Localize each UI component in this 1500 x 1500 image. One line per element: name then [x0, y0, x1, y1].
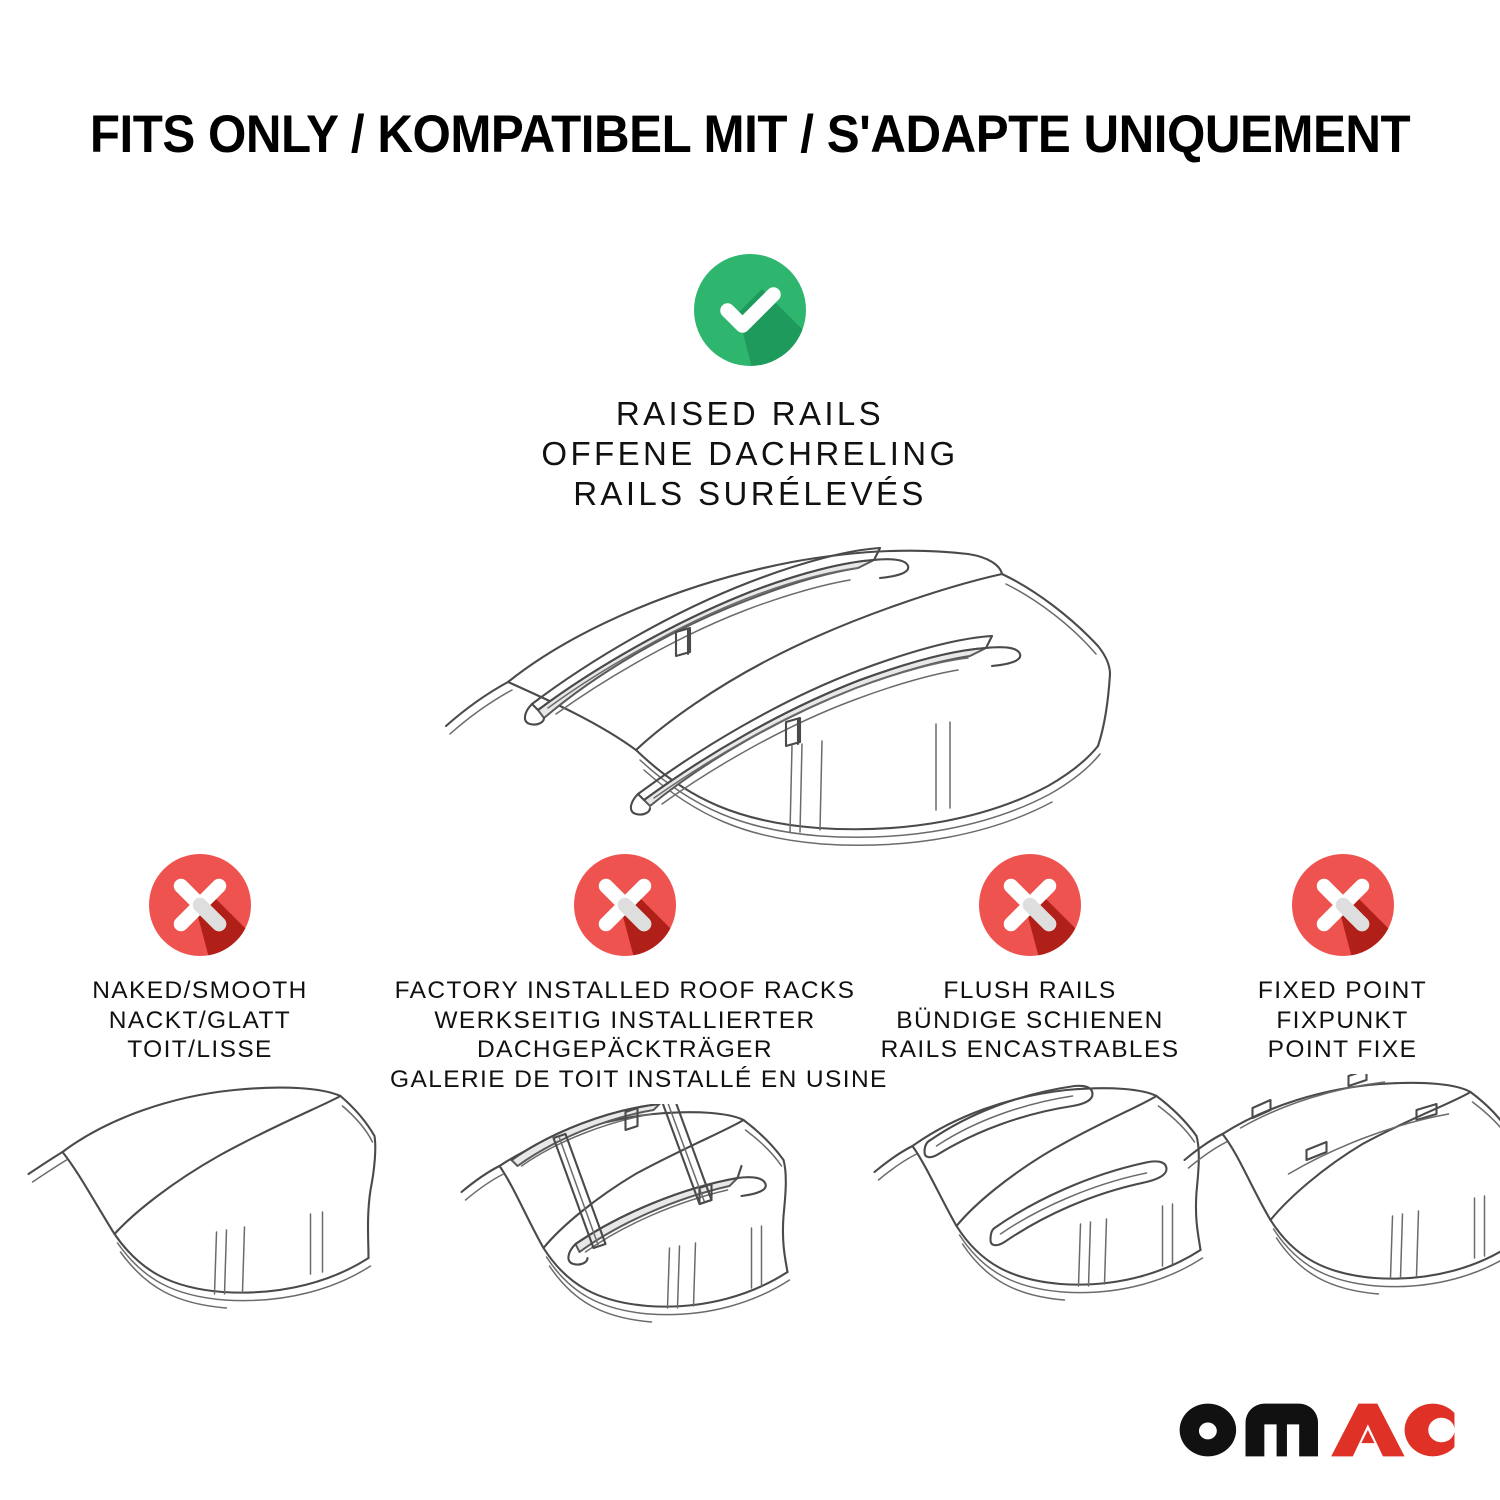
compatible-label-fr: RAILS SURÉLEVÉS	[0, 474, 1500, 514]
factory-roof-racks-label-de-2: DACHGEPÄCKTRÄGER	[390, 1035, 860, 1065]
compatible-labels: RAISED RAILS OFFENE DACHRELING RAILS SUR…	[0, 394, 1500, 514]
fixed-point-label-de: FIXPUNKT	[1195, 1006, 1490, 1036]
incompatible-item-factory-roof-racks: FACTORY INSTALLED ROOF RACKS WERKSEITIG …	[390, 852, 860, 1094]
factory-roof-racks-label-fr: GALERIE DE TOIT INSTALLÉ EN USINE	[390, 1065, 860, 1095]
cross-circle-icon	[1290, 852, 1396, 958]
car-roof-with-fixed-points-illustration	[1170, 1074, 1500, 1319]
cross-circle-icon	[572, 852, 678, 958]
naked-smooth-label-de: NACKT/GLATT	[20, 1006, 380, 1036]
logo-letter-c	[1404, 1404, 1454, 1457]
omac-logo	[1174, 1398, 1456, 1462]
car-roof-with-raised-rails-illustration	[388, 510, 1112, 850]
incompatible-item-naked-smooth: NAKED/SMOOTH NACKT/GLATT TOIT/LISSE	[20, 852, 380, 1065]
naked-smooth-labels: NAKED/SMOOTH NACKT/GLATT TOIT/LISSE	[20, 976, 380, 1065]
fixed-point-labels: FIXED POINT FIXPUNKT POINT FIXE	[1195, 976, 1490, 1065]
factory-roof-racks-labels: FACTORY INSTALLED ROOF RACKS WERKSEITIG …	[390, 976, 860, 1094]
compatible-label-en: RAISED RAILS	[0, 394, 1500, 434]
naked-smooth-label-fr: TOIT/LISSE	[20, 1035, 380, 1065]
cross-circle-icon	[147, 852, 253, 958]
flush-rails-label-en: FLUSH RAILS	[865, 976, 1195, 1006]
factory-roof-racks-label-de-1: WERKSEITIG INSTALLIERTER	[390, 1006, 860, 1036]
logo-letter-m	[1245, 1404, 1317, 1457]
flush-rails-labels: FLUSH RAILS BÜNDIGE SCHIENEN RAILS ENCAS…	[865, 976, 1195, 1065]
page-title: FITS ONLY / KOMPATIBEL MIT / S'ADAPTE UN…	[53, 104, 1448, 165]
factory-roof-racks-label-en: FACTORY INSTALLED ROOF RACKS	[390, 976, 860, 1006]
cross-circle-icon	[977, 852, 1083, 958]
logo-letter-o	[1179, 1404, 1235, 1457]
fixed-point-label-en: FIXED POINT	[1195, 976, 1490, 1006]
logo-letter-a	[1331, 1404, 1404, 1457]
incompatible-item-flush-rails: FLUSH RAILS BÜNDIGE SCHIENEN RAILS ENCAS…	[865, 852, 1195, 1065]
car-roof-bare-illustration	[23, 1074, 378, 1319]
fitment-infographic: FITS ONLY / KOMPATIBEL MIT / S'ADAPTE UN…	[0, 0, 1500, 1500]
car-roof-with-flush-rails-illustration	[853, 1074, 1208, 1319]
car-roof-with-factory-crossbars-illustration	[448, 1104, 803, 1349]
fixed-point-label-fr: POINT FIXE	[1195, 1035, 1490, 1065]
flush-rails-label-de: BÜNDIGE SCHIENEN	[865, 1006, 1195, 1036]
flush-rails-label-fr: RAILS ENCASTRABLES	[865, 1035, 1195, 1065]
incompatible-item-fixed-point: FIXED POINT FIXPUNKT POINT FIXE	[1195, 852, 1490, 1065]
compatible-label-de: OFFENE DACHRELING	[0, 434, 1500, 474]
check-circle-icon	[692, 252, 808, 368]
compatible-section: RAISED RAILS OFFENE DACHRELING RAILS SUR…	[0, 252, 1500, 514]
naked-smooth-label-en: NAKED/SMOOTH	[20, 976, 380, 1006]
